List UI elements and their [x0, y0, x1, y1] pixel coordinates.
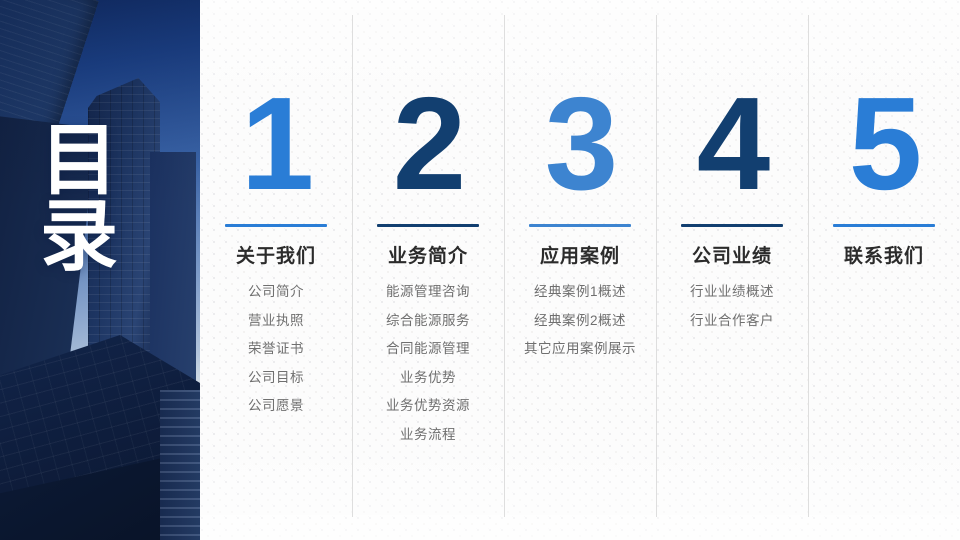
column-rule-1: [225, 224, 327, 227]
column-rule-5: [833, 224, 935, 227]
list-item[interactable]: 经典案例1概述: [524, 285, 636, 299]
column-number-2: 2: [393, 88, 463, 208]
toc-columns: 1 关于我们 公司简介营业执照荣誉证书公司目标公司愿景 2 业务简介 能源管理咨…: [200, 0, 960, 540]
toc-column-1[interactable]: 1 关于我们 公司简介营业执照荣誉证书公司目标公司愿景: [200, 0, 352, 540]
column-number-5: 5: [849, 88, 919, 208]
list-item[interactable]: 经典案例2概述: [524, 314, 636, 328]
column-heading-1[interactable]: 关于我们: [236, 241, 316, 268]
list-item[interactable]: 荣誉证书: [248, 342, 304, 356]
column-rule-2: [377, 224, 479, 227]
city-skyline-photo: 目 录: [0, 0, 200, 540]
column-items-1: 公司简介营业执照荣誉证书公司目标公司愿景: [248, 285, 304, 428]
list-item[interactable]: 行业合作客户: [690, 314, 774, 328]
list-item[interactable]: 能源管理咨询: [386, 285, 470, 299]
column-items-3: 经典案例1概述经典案例2概述其它应用案例展示: [524, 285, 636, 371]
list-item[interactable]: 业务流程: [386, 428, 470, 442]
page-title-char-1: 目: [40, 122, 160, 198]
list-item[interactable]: 合同能源管理: [386, 342, 470, 356]
list-item[interactable]: 业务优势: [386, 371, 470, 385]
column-heading-2[interactable]: 业务简介: [388, 241, 468, 268]
column-rule-4: [681, 224, 783, 227]
column-number-3: 3: [545, 88, 615, 208]
list-item[interactable]: 行业业绩概述: [690, 285, 774, 299]
column-heading-4[interactable]: 公司业绩: [692, 241, 772, 268]
list-item[interactable]: 公司愿景: [248, 399, 304, 413]
toc-column-2[interactable]: 2 业务简介 能源管理咨询综合能源服务合同能源管理业务优势业务优势资源业务流程: [352, 0, 504, 540]
column-number-1: 1: [241, 88, 311, 208]
list-item[interactable]: 综合能源服务: [386, 314, 470, 328]
toc-column-5[interactable]: 5 联系我们: [808, 0, 960, 540]
column-items-2: 能源管理咨询综合能源服务合同能源管理业务优势业务优势资源业务流程: [386, 285, 470, 456]
list-item[interactable]: 营业执照: [248, 314, 304, 328]
page-title-char-2: 录: [40, 198, 160, 274]
column-heading-5[interactable]: 联系我们: [844, 241, 924, 268]
toc-column-4[interactable]: 4 公司业绩 行业业绩概述行业合作客户: [656, 0, 808, 540]
toc-column-3[interactable]: 3 应用案例 经典案例1概述经典案例2概述其它应用案例展示: [504, 0, 656, 540]
column-heading-3[interactable]: 应用案例: [540, 241, 620, 268]
column-number-4: 4: [697, 88, 767, 208]
list-item[interactable]: 业务优势资源: [386, 399, 470, 413]
toc-slide: 目 录 1 关于我们 公司简介营业执照荣誉证书公司目标公司愿景 2 业务简介 能…: [0, 0, 960, 540]
column-rule-3: [529, 224, 631, 227]
list-item[interactable]: 其它应用案例展示: [524, 342, 636, 356]
list-item[interactable]: 公司目标: [248, 371, 304, 385]
column-items-4: 行业业绩概述行业合作客户: [690, 285, 774, 342]
list-item[interactable]: 公司简介: [248, 285, 304, 299]
page-title: 目 录: [40, 122, 160, 275]
